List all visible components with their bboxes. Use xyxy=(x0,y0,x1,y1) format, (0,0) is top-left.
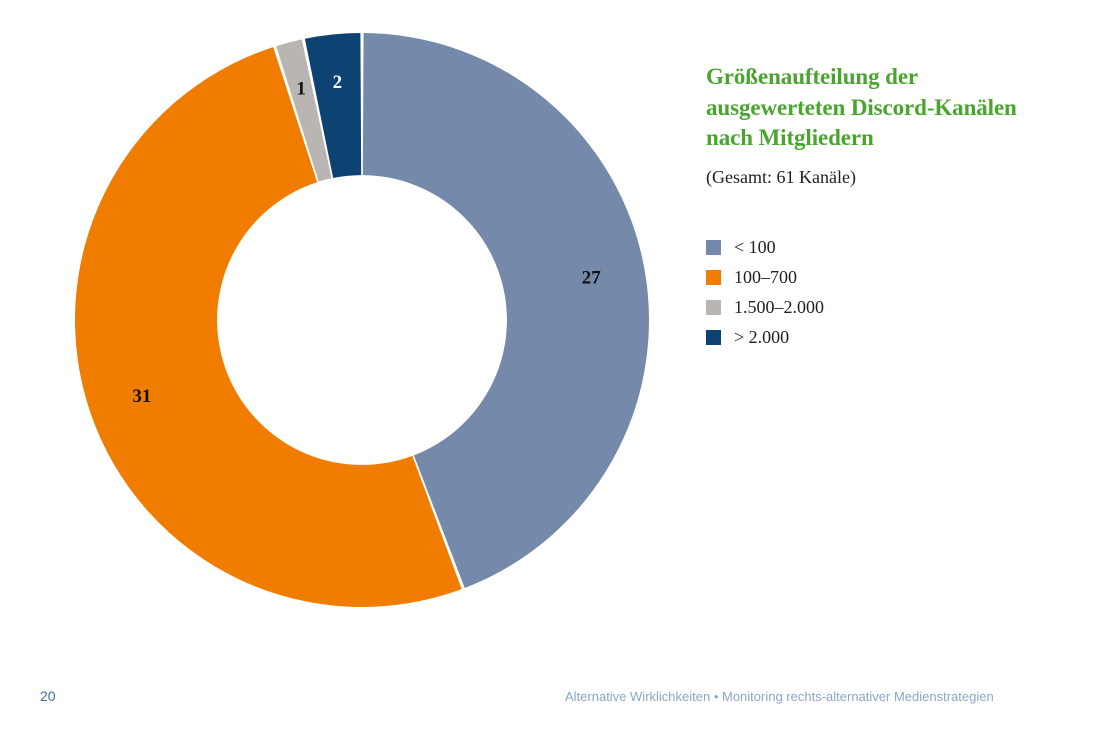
donut-chart-svg: 273112 xyxy=(0,0,700,660)
donut-slice-value-label: 2 xyxy=(333,72,343,93)
legend-swatch-icon xyxy=(706,300,721,315)
slide-canvas: 273112 Größenaufteilung der ausgewertete… xyxy=(0,0,1095,731)
legend-swatch-icon xyxy=(706,240,721,255)
legend-label: > 2.000 xyxy=(734,327,789,348)
legend-label: < 100 xyxy=(734,237,776,258)
legend-swatch-icon xyxy=(706,270,721,285)
legend-swatch-icon xyxy=(706,330,721,345)
donut-chart: 273112 xyxy=(0,0,700,660)
chart-legend: < 100100–7001.500–2.000> 2.000 xyxy=(706,232,1036,352)
legend-item[interactable]: 100–700 xyxy=(706,262,1036,292)
donut-slice-value-label: 31 xyxy=(132,386,151,407)
donut-slice-value-label: 27 xyxy=(582,268,602,289)
chart-subtitle: (Gesamt: 61 Kanäle) xyxy=(706,167,1036,189)
donut-slice-value-label: 1 xyxy=(296,78,306,99)
legend-item[interactable]: 1.500–2.000 xyxy=(706,292,1036,322)
footer-text: Alternative Wirklichkeiten • Monitoring … xyxy=(565,689,994,704)
chart-title: Größenaufteilung der ausgewerteten Disco… xyxy=(706,62,1036,154)
page-number: 20 xyxy=(40,688,56,704)
legend-item[interactable]: < 100 xyxy=(706,232,1036,262)
legend-label: 1.500–2.000 xyxy=(734,297,824,318)
chart-info-panel: Größenaufteilung der ausgewerteten Disco… xyxy=(706,62,1036,352)
legend-item[interactable]: > 2.000 xyxy=(706,322,1036,352)
legend-label: 100–700 xyxy=(734,267,797,288)
donut-slice-group xyxy=(75,33,649,607)
